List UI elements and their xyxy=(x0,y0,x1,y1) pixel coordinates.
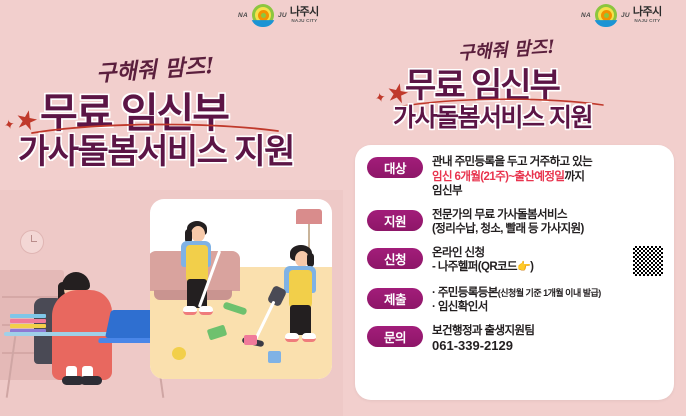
text-segment: 무료 xyxy=(475,209,495,221)
apply-row-wrap: 온라인 신청- 나주헬퍼(QR코드👉) xyxy=(432,246,664,277)
left-panel: NA JU 나주시 NAJU CITY 구해줘 맘즈! ✦★ 무료 임신부 가사… xyxy=(0,0,343,416)
logo-mark-icon xyxy=(594,4,618,26)
row-line: - 나주헬퍼(QR코드👉) xyxy=(432,260,533,275)
info-row-문의: 문의보건행정과 출생지원팀061-339-2129 xyxy=(355,324,674,354)
logo-korean-block: 나주시 NAJU CITY xyxy=(290,7,319,24)
text-segment: 까지 xyxy=(564,171,584,183)
text-segment: 관내 xyxy=(432,156,455,168)
info-row-대상: 대상관내 주민등록을 두고 거주하고 있는임신 6개월(21주)~출산예정일까지… xyxy=(355,155,674,199)
naju-city-logo: NA JU 나주시 NAJU CITY xyxy=(581,4,662,26)
text-segment: 👉 xyxy=(517,261,530,273)
text-segment: 보건행정과 출생지원팀 xyxy=(432,325,534,337)
text-segment: 가사돌봄서비스 xyxy=(494,209,566,221)
text-segment: (신청월 기준 1개월 이내 발급) xyxy=(498,288,601,298)
logo-english-name: NAJU CITY xyxy=(291,19,317,24)
debris-item xyxy=(244,335,257,345)
left-illustration xyxy=(0,190,343,416)
row-line: (정리수납, 청소, 빨래 등 가사지원) xyxy=(432,222,664,237)
text-segment: 주민등록 xyxy=(455,156,495,168)
info-row-제출: 제출· 주민등록등본(신청월 기준 1개월 이내 발급)· 임신확인서 xyxy=(355,286,674,315)
text-segment: 전문가의 xyxy=(432,209,475,221)
poster-root: NA JU 나주시 NAJU CITY 구해줘 맘즈! ✦★ 무료 임신부 가사… xyxy=(0,0,686,416)
qr-code-image[interactable] xyxy=(632,245,664,277)
row-label-pill: 대상 xyxy=(367,157,423,178)
text-segment: · 주민등록등본 xyxy=(432,287,498,299)
row-line: 임신 6개월(21주)~출산예정일까지 xyxy=(432,170,664,185)
row-line: · 임신확인서 xyxy=(432,300,664,315)
text-segment: - 나주헬퍼(QR코드 xyxy=(432,261,517,273)
row-body: 온라인 신청- 나주헬퍼(QR코드👉) xyxy=(432,246,664,277)
text-segment: 을 두고 거주하고 있는 xyxy=(494,156,592,168)
debris-item xyxy=(172,347,186,360)
row-line: · 주민등록등본(신청월 기준 1개월 이내 발급) xyxy=(432,286,664,301)
row-line: 임신부 xyxy=(432,184,664,199)
right-panel: NA JU 나주시 NAJU CITY 구해줘 맘즈! ✦★ 무료 임신부 가사… xyxy=(343,0,686,416)
logo-korean-block: 나주시 NAJU CITY xyxy=(633,7,662,24)
row-line: 전문가의 무료 가사돌봄서비스 xyxy=(432,208,664,223)
floor-lamp-icon xyxy=(296,209,322,224)
text-segment: 임신 6개월(21주)~출산예정일 xyxy=(432,171,564,183)
naju-city-logo: NA JU 나주시 NAJU CITY xyxy=(238,4,319,26)
row-line: 관내 주민등록을 두고 거주하고 있는 xyxy=(432,155,664,170)
info-row-신청: 신청온라인 신청- 나주헬퍼(QR코드👉) xyxy=(355,246,674,277)
text-segment: 임신부 xyxy=(432,185,462,197)
logo-english-name: NAJU CITY xyxy=(634,19,660,24)
text-segment: 061-339-2129 xyxy=(432,338,513,353)
info-row-지원: 지원전문가의 무료 가사돌봄서비스(정리수납, 청소, 빨래 등 가사지원) xyxy=(355,208,674,237)
logo-latin-left: NA xyxy=(581,12,591,19)
row-body: 보건행정과 출생지원팀061-339-2129 xyxy=(432,324,664,354)
info-rows: 대상관내 주민등록을 두고 거주하고 있는임신 6개월(21주)~출산예정일까지… xyxy=(355,155,674,363)
text-segment: · 임신확인서 xyxy=(432,301,488,313)
left-subheadline: 가사돌봄서비스 지원 xyxy=(18,124,294,173)
row-body: 관내 주민등록을 두고 거주하고 있는임신 6개월(21주)~출산예정일까지임신… xyxy=(432,155,664,199)
logo-mark-icon xyxy=(251,4,275,26)
info-card: 대상관내 주민등록을 두고 거주하고 있는임신 6개월(21주)~출산예정일까지… xyxy=(355,145,674,400)
logo-latin-left: NA xyxy=(238,12,248,19)
row-label-pill: 신청 xyxy=(367,248,423,269)
row-body: · 주민등록등본(신청월 기준 1개월 이내 발급)· 임신확인서 xyxy=(432,286,664,315)
book-stack-shape xyxy=(10,314,46,332)
row-body: 전문가의 무료 가사돌봄서비스(정리수납, 청소, 빨래 등 가사지원) xyxy=(432,208,664,237)
text-segment: ) xyxy=(530,261,533,273)
right-subheadline: 가사돌봄서비스 지원 xyxy=(393,98,592,134)
logo-korean-name: 나주시 xyxy=(290,7,319,18)
row-line: 온라인 신청 xyxy=(432,246,533,261)
logo-korean-name: 나주시 xyxy=(633,7,662,18)
row-line: 보건행정과 출생지원팀 xyxy=(432,324,664,339)
wall-clock-icon xyxy=(20,230,44,254)
row-label-pill: 문의 xyxy=(367,326,423,347)
row-label-pill: 지원 xyxy=(367,210,423,231)
housekeeping-scene-card xyxy=(150,199,332,379)
text-segment: (정리수납, 청소, 빨래 등 가사지원) xyxy=(432,223,584,235)
row-line: 061-339-2129 xyxy=(432,339,664,354)
row-label-pill: 제출 xyxy=(367,288,423,309)
text-segment: 온라인 신청 xyxy=(432,247,485,259)
debris-item xyxy=(268,351,281,363)
logo-latin-right: JU xyxy=(278,12,287,19)
logo-latin-right: JU xyxy=(621,12,630,19)
